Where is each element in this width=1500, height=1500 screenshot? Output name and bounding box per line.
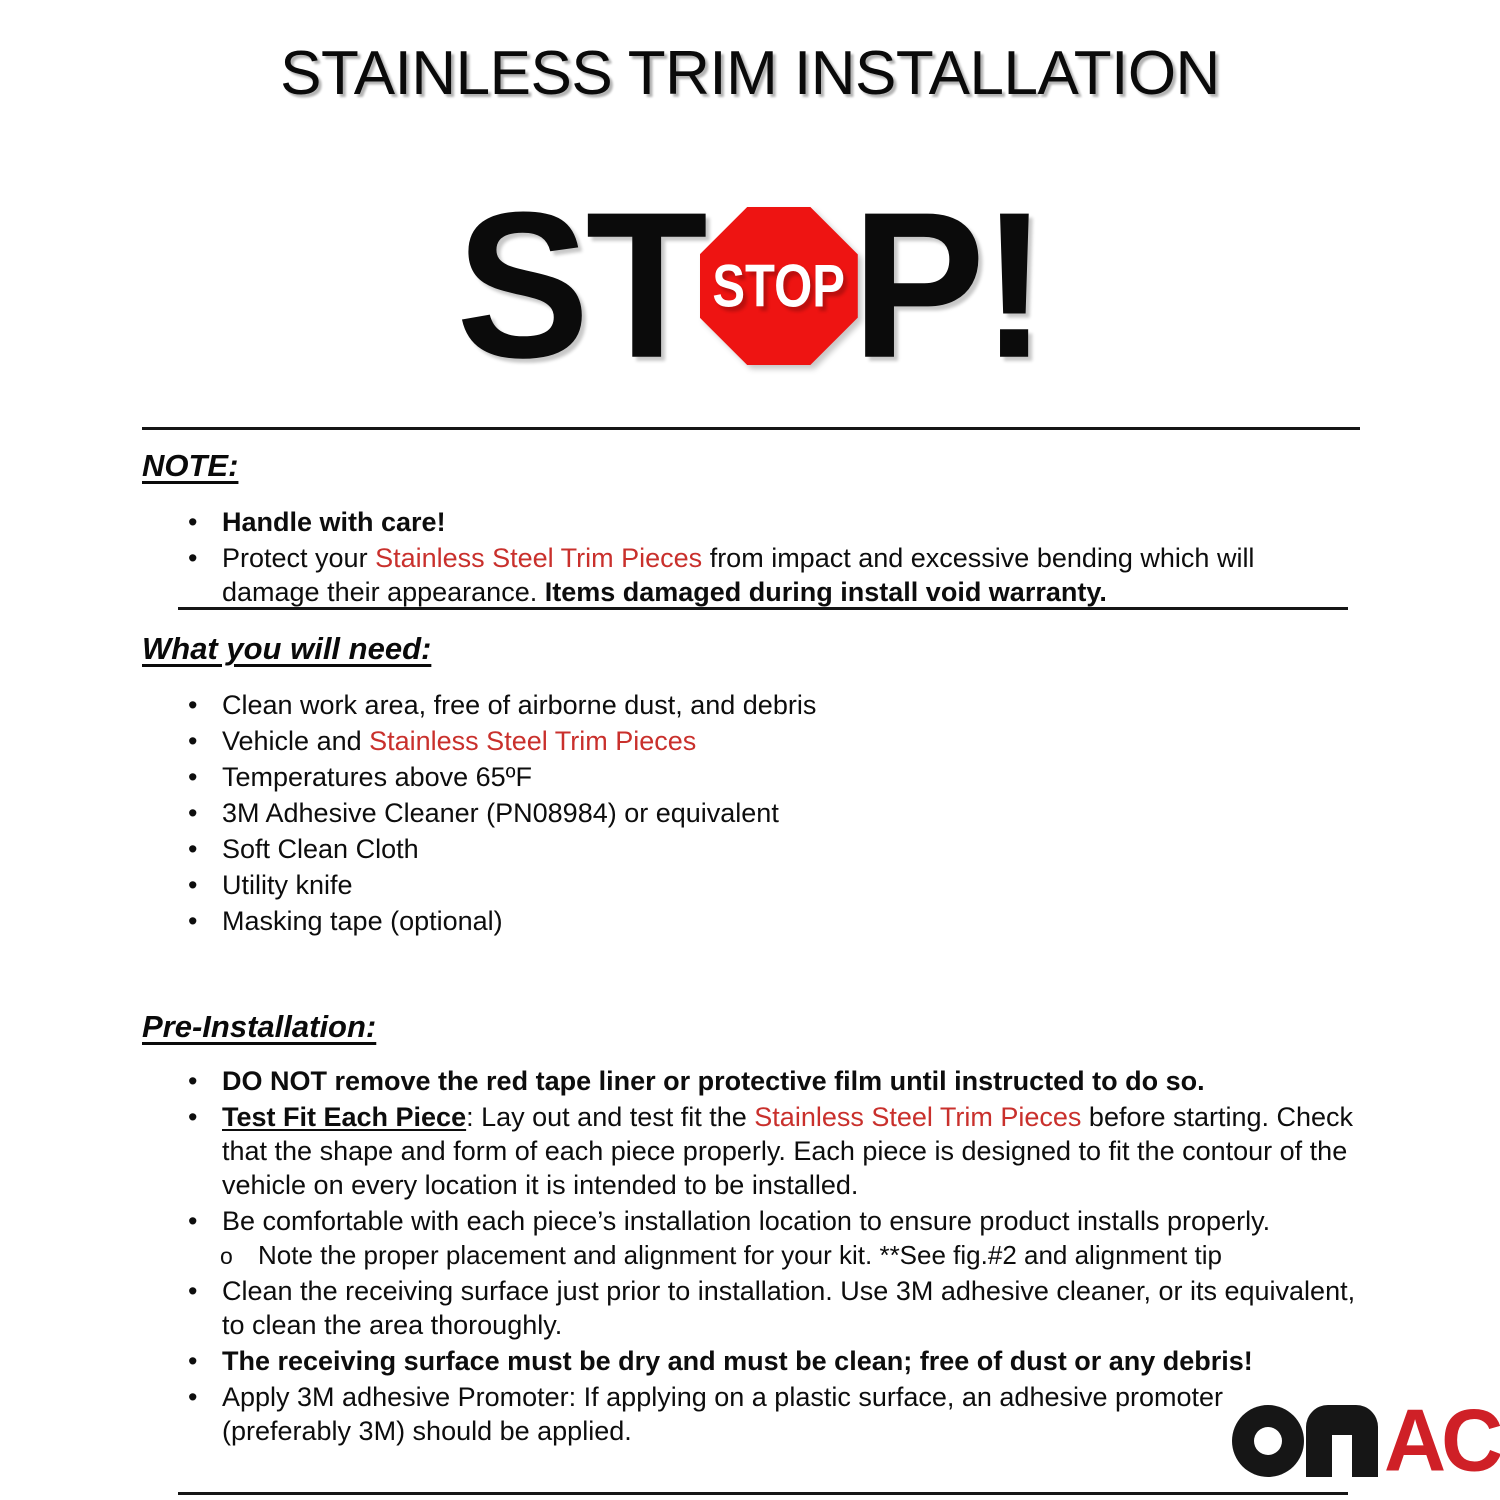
list-item-text: Protect your Stainless Steel Trim Pieces… [222,543,1254,607]
list-item: • DO NOT remove the red tape liner or pr… [178,1064,1358,1098]
list-item: • Soft Clean Cloth [178,832,1358,866]
bullet-disc-icon: • [188,1064,197,1098]
list-item-text: Handle with care! [222,507,446,537]
list-item: • Test Fit Each Piece: Lay out and test … [178,1100,1358,1202]
omac-logo: AC [1232,1400,1476,1482]
stop-warning-graphic: ST STOP P! [0,188,1500,384]
list-item: • The receiving surface must be dry and … [178,1344,1358,1378]
list-item: • Be comfortable with each piece’s insta… [178,1204,1358,1238]
list-item-text: Temperatures above 65ºF [222,762,532,792]
divider-bottom [178,1492,1348,1495]
sub-list-item: o Note the proper placement and alignmen… [196,1238,1358,1272]
stop-sign-label: STOP [713,256,846,316]
text-run-label: Test Fit Each Piece [222,1102,466,1132]
pre-installation-bullet-list: • DO NOT remove the red tape liner or pr… [178,1064,1358,1448]
text-run-emphasis: The receiving surface must be dry and mu… [222,1346,1253,1376]
list-item: • Handle with care! [178,505,1358,539]
list-item-text: The receiving surface must be dry and mu… [222,1346,1253,1376]
list-item: • Clean work area, free of airborne dust… [178,688,1358,722]
list-item-text: Clean the receiving surface just prior t… [222,1276,1355,1340]
text-run: Vehicle and [222,726,369,756]
bullet-disc-icon: • [188,1380,197,1414]
heading-note: NOTE: [142,448,238,484]
bullet-disc-icon: • [188,832,197,866]
pre-installation-section-body: • DO NOT remove the red tape liner or pr… [178,1064,1358,1450]
octagon-shape: STOP [700,207,858,365]
heading-what-you-will-need: What you will need: [142,631,431,667]
list-item-text: Clean work area, free of airborne dust, … [222,690,816,720]
bullet-disc-icon: • [188,796,197,830]
sub-list-item-text: Note the proper placement and alignment … [258,1240,1222,1270]
bullet-disc-icon: • [188,1274,197,1308]
list-item-text: 3M Adhesive Cleaner (PN08984) or equival… [222,798,779,828]
bullet-disc-icon: • [188,688,197,722]
stop-sign-icon: STOP [700,207,858,365]
what-you-need-section-body: • Clean work area, free of airborne dust… [178,688,1358,940]
divider-top [142,427,1360,430]
stop-letters-right: P! [852,192,1044,379]
text-run-emphasis: Items damaged during install void warran… [545,577,1107,607]
bullet-disc-icon: • [188,760,197,794]
note-bullet-list: • Handle with care! • Protect your Stain… [178,505,1358,609]
list-item-text: DO NOT remove the red tape liner or prot… [222,1066,1205,1096]
bullet-disc-icon: • [188,1204,197,1238]
omac-letter-o-icon [1232,1405,1304,1477]
list-item: • Protect your Stainless Steel Trim Piec… [178,541,1358,609]
list-item-text: Masking tape (optional) [222,906,503,936]
list-item-text: Test Fit Each Piece: Lay out and test fi… [222,1102,1353,1200]
bullet-disc-icon: • [188,505,197,539]
list-item-text: Vehicle and Stainless Steel Trim Pieces [222,726,696,756]
omac-letter-m-icon [1306,1405,1378,1477]
bullet-circle-icon: o [220,1239,233,1273]
text-run: Handle with care! [222,507,446,537]
bullet-disc-icon: • [188,541,197,575]
note-section-body: • Handle with care! • Protect your Stain… [178,505,1358,611]
bullet-disc-icon: • [188,724,197,758]
text-run: Protect your [222,543,375,573]
stop-letters-left: ST [456,192,704,379]
text-run-emphasis: DO NOT remove the red tape liner or prot… [222,1066,1205,1096]
bullet-disc-icon: • [188,1344,197,1378]
list-item-text: Be comfortable with each piece’s install… [222,1206,1270,1236]
omac-wordmark-ac: AC [1384,1404,1498,1477]
text-run: : Lay out and test fit the [466,1102,754,1132]
bullet-disc-icon: • [188,1100,197,1134]
list-item: • Apply 3M adhesive Promoter: If applyin… [178,1380,1358,1448]
list-item: • Vehicle and Stainless Steel Trim Piece… [178,724,1358,758]
list-item: • Masking tape (optional) [178,904,1358,938]
pre-installation-sub-bullet-list: o Note the proper placement and alignmen… [178,1238,1358,1272]
bullet-disc-icon: • [188,904,197,938]
list-item: • Utility knife [178,868,1358,902]
heading-pre-installation: Pre-Installation: [142,1009,376,1045]
list-item: • Temperatures above 65ºF [178,760,1358,794]
list-item: • 3M Adhesive Cleaner (PN08984) or equiv… [178,796,1358,830]
bullet-disc-icon: • [188,868,197,902]
list-item-text: Utility knife [222,870,353,900]
list-item-text: Apply 3M adhesive Promoter: If applying … [222,1382,1223,1446]
text-run-highlight: Stainless Steel Trim Pieces [754,1102,1081,1132]
list-item-text: Soft Clean Cloth [222,834,419,864]
what-you-need-bullet-list: • Clean work area, free of airborne dust… [178,688,1358,938]
text-run-highlight: Stainless Steel Trim Pieces [369,726,696,756]
stop-wordmark: ST STOP P! [456,191,1044,381]
page-title: STAINLESS TRIM INSTALLATION [0,38,1500,110]
sub-list-container: o Note the proper placement and alignmen… [178,1238,1358,1272]
text-run-highlight: Stainless Steel Trim Pieces [375,543,702,573]
list-item: • Clean the receiving surface just prior… [178,1274,1358,1342]
